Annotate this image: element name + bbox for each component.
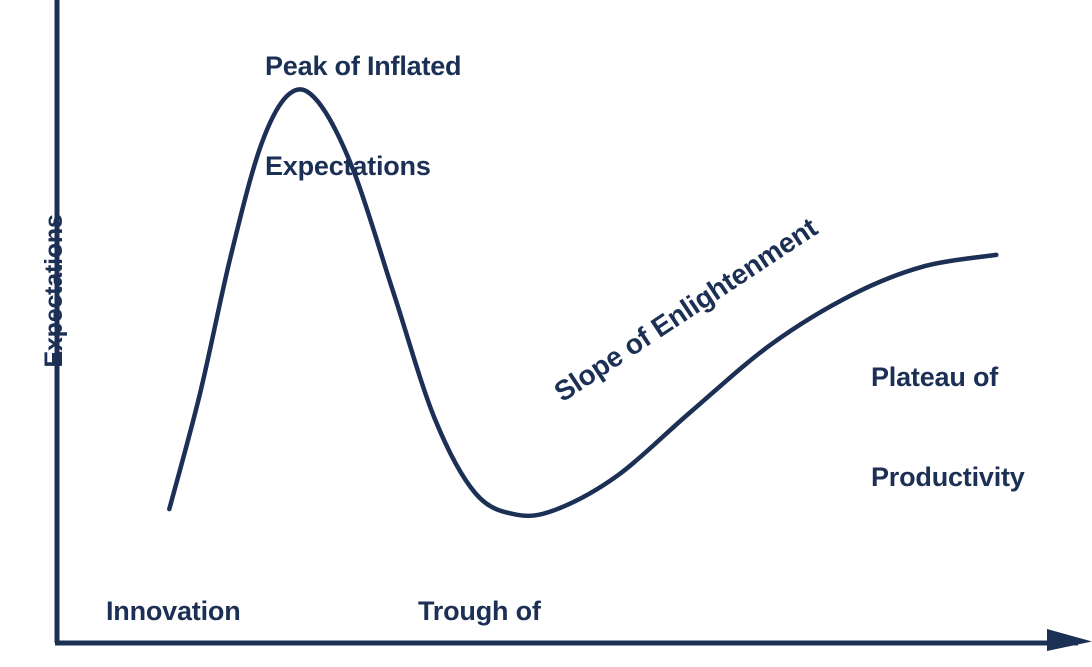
- annotation-trough-of-disillusionment: Trough of Disillusionment: [418, 528, 616, 667]
- hype-cycle-chart: Expectations Peak of Inflated Expectatio…: [0, 0, 1092, 667]
- annotation-innovation-trigger: Innovation Trigger: [106, 528, 241, 667]
- annotation-innovation-line-1: Innovation: [106, 595, 241, 628]
- annotation-plateau-line-2: Productivity: [871, 461, 1025, 494]
- annotation-trough-line-1: Trough of: [418, 595, 616, 628]
- x-axis-arrowhead: [1047, 629, 1092, 651]
- annotation-plateau-line-1: Plateau of: [871, 361, 1025, 394]
- annotation-peak-of-inflated-expectations: Peak of Inflated Expectations: [265, 0, 461, 251]
- annotation-plateau-of-productivity: Plateau of Productivity: [871, 294, 1025, 562]
- annotation-peak-line-1: Peak of Inflated: [265, 50, 461, 83]
- annotation-peak-line-2: Expectations: [265, 150, 461, 183]
- y-axis-label: Expectations: [39, 214, 70, 367]
